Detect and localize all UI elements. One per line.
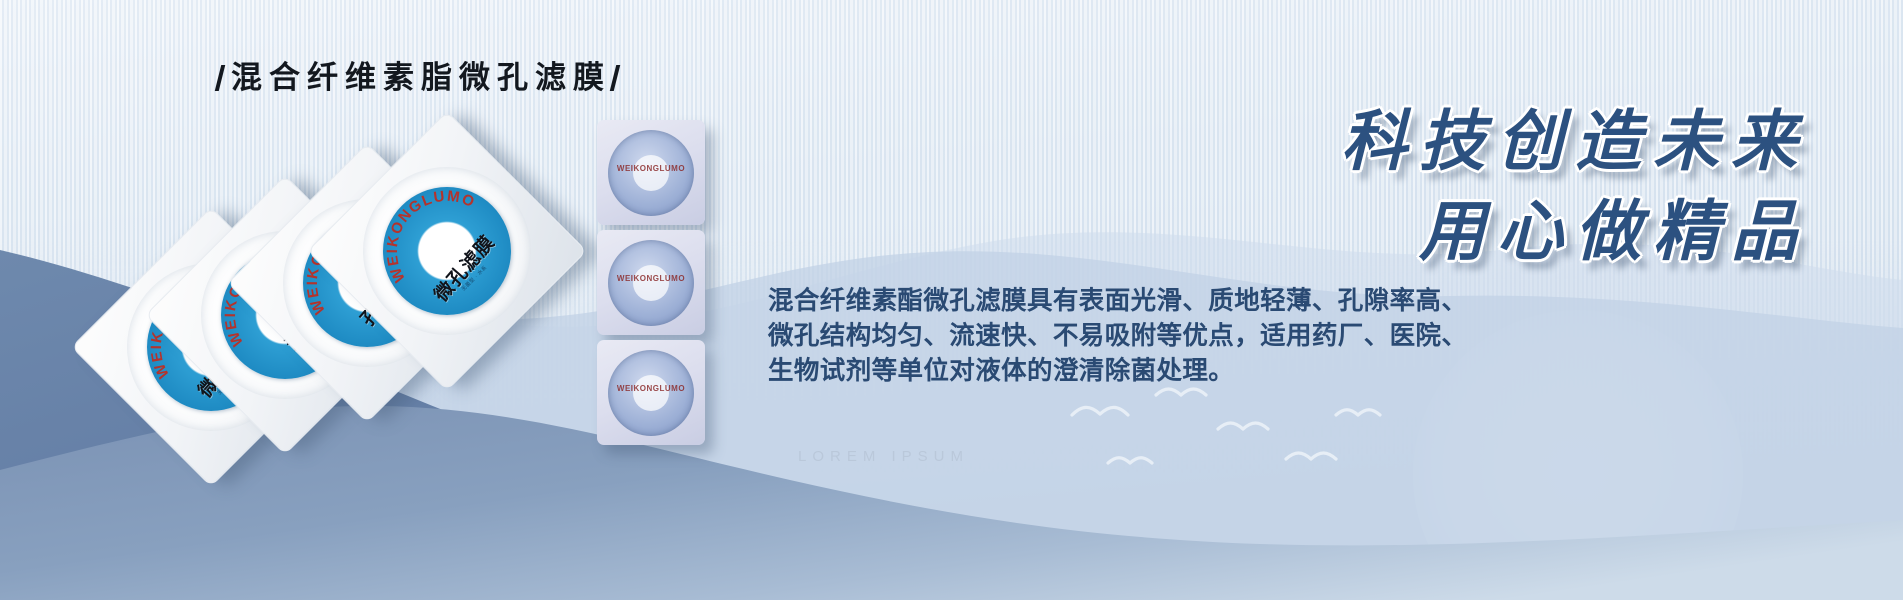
birds-decoration	[1060, 385, 1390, 495]
description-line: 生物试剂等单位对液体的澄清除菌处理。	[768, 353, 1448, 388]
filter-sample-label: WEIKONGLUMO	[597, 274, 705, 283]
slogan-line-1: 科技创造未来	[1341, 88, 1809, 184]
product-description: 混合纤维素酯微孔滤膜具有表面光滑、质地轻薄、孔隙率高、 微孔结构均匀、流速快、不…	[768, 283, 1448, 388]
product-pack-group: WEIKONGLUMO 微孔滤膜 无菌型 · 水系 · 有机系 WEIKONGL…	[120, 130, 560, 490]
filter-sample-label: WEIKONGLUMO	[597, 164, 705, 173]
filter-sample-label: WEIKONGLUMO	[597, 384, 705, 393]
slogan-line-2: 用心做精品	[1419, 178, 1809, 274]
label-brand-arc: WEIKONGLUMO	[356, 160, 537, 341]
watermark-text: LOREM IPSUM	[798, 448, 969, 465]
promo-banner: WEIKONGLUMO 微孔滤膜 无菌型 · 水系 · 有机系 WEIKONGL…	[0, 0, 1903, 600]
filter-sample: WEIKONGLUMO	[597, 230, 705, 335]
filter-sample: WEIKONGLUMO	[597, 340, 705, 445]
page-title: 混合纤维素脂微孔滤膜	[218, 52, 617, 97]
filter-sample: WEIKONGLUMO	[597, 120, 705, 225]
description-line: 微孔结构均匀、流速快、不易吸附等优点，适用药厂、医院、	[768, 318, 1448, 353]
filter-sample-column: WEIKONGLUMO WEIKONGLUMO WEIKONGLUMO	[597, 120, 717, 450]
page-title-text: 混合纤维素脂微孔滤膜	[231, 60, 611, 95]
description-line: 混合纤维素酯微孔滤膜具有表面光滑、质地轻薄、孔隙率高、	[768, 283, 1448, 318]
product-label: WEIKONGLUMO 微孔滤膜 无菌型 · 水系	[356, 160, 537, 341]
